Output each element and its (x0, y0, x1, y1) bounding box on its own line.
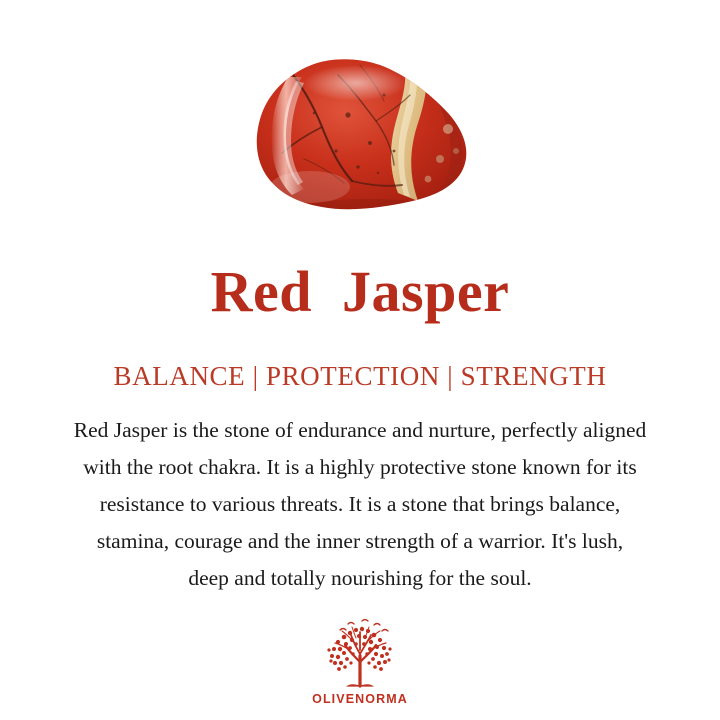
description-line: Red Jasper is the stone of endurance and… (10, 412, 710, 449)
tree-of-life-icon (318, 616, 402, 690)
description-line: stamina, courage and the inner strength … (10, 523, 710, 560)
description-line: deep and totally nourishing for the soul… (10, 560, 710, 597)
brand-wordmark: OLIVENORMA (0, 692, 720, 706)
red-jasper-infographic: Red Jasper BALANCE | PROTECTION | STRENG… (0, 0, 720, 720)
description-line: resistance to various threats. It is a s… (10, 486, 710, 523)
keyword-subtitle: BALANCE | PROTECTION | STRENGTH (0, 360, 720, 392)
description-paragraph: Red Jasper is the stone of endurance and… (10, 412, 710, 597)
red-jasper-stone-image (252, 55, 474, 220)
stone-illustration (252, 55, 474, 220)
page-title: Red Jasper (0, 262, 720, 322)
description-line: with the root chakra. It is a highly pro… (10, 449, 710, 486)
brand-logo: OLIVENORMA (0, 616, 720, 706)
